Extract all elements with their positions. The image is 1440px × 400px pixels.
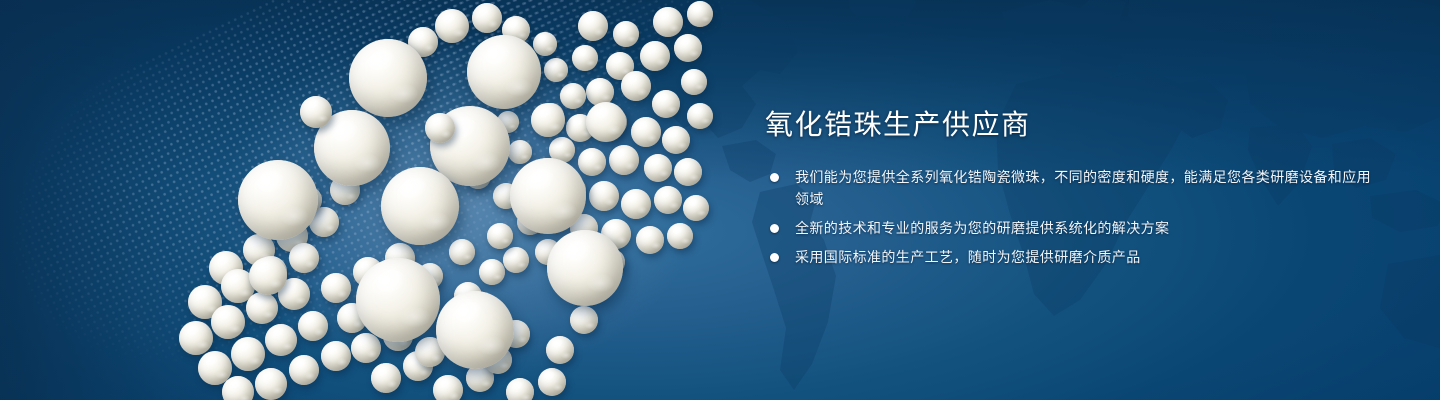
banner-text-block: 氧化锆珠生产供应商 我们能为您提供全系列氧化锆陶瓷微珠，不同的密度和硬度，能满足… — [765, 108, 1385, 268]
feature-list: 我们能为您提供全系列氧化锆陶瓷微珠，不同的密度和硬度，能满足您各类研磨设备和应用… — [765, 166, 1385, 268]
list-item-text: 全新的技术和专业的服务为您的研磨提供系统化的解决方案 — [795, 220, 1169, 236]
hero-banner: 氧化锆珠生产供应商 我们能为您提供全系列氧化锆陶瓷微珠，不同的密度和硬度，能满足… — [0, 0, 1440, 400]
list-item: 我们能为您提供全系列氧化锆陶瓷微珠，不同的密度和硬度，能满足您各类研磨设备和应用… — [765, 166, 1385, 210]
list-item-text: 我们能为您提供全系列氧化锆陶瓷微珠，不同的密度和硬度，能满足您各类研磨设备和应用… — [795, 169, 1371, 207]
list-item: 采用国际标准的生产工艺，随时为您提供研磨介质产品 — [765, 246, 1385, 268]
bullet-dot-icon — [770, 173, 779, 182]
bullet-dot-icon — [770, 224, 779, 233]
page-title: 氧化锆珠生产供应商 — [765, 108, 1385, 142]
bullet-dot-icon — [770, 253, 779, 262]
list-item: 全新的技术和专业的服务为您的研磨提供系统化的解决方案 — [765, 217, 1385, 239]
list-item-text: 采用国际标准的生产工艺，随时为您提供研磨介质产品 — [795, 249, 1141, 265]
